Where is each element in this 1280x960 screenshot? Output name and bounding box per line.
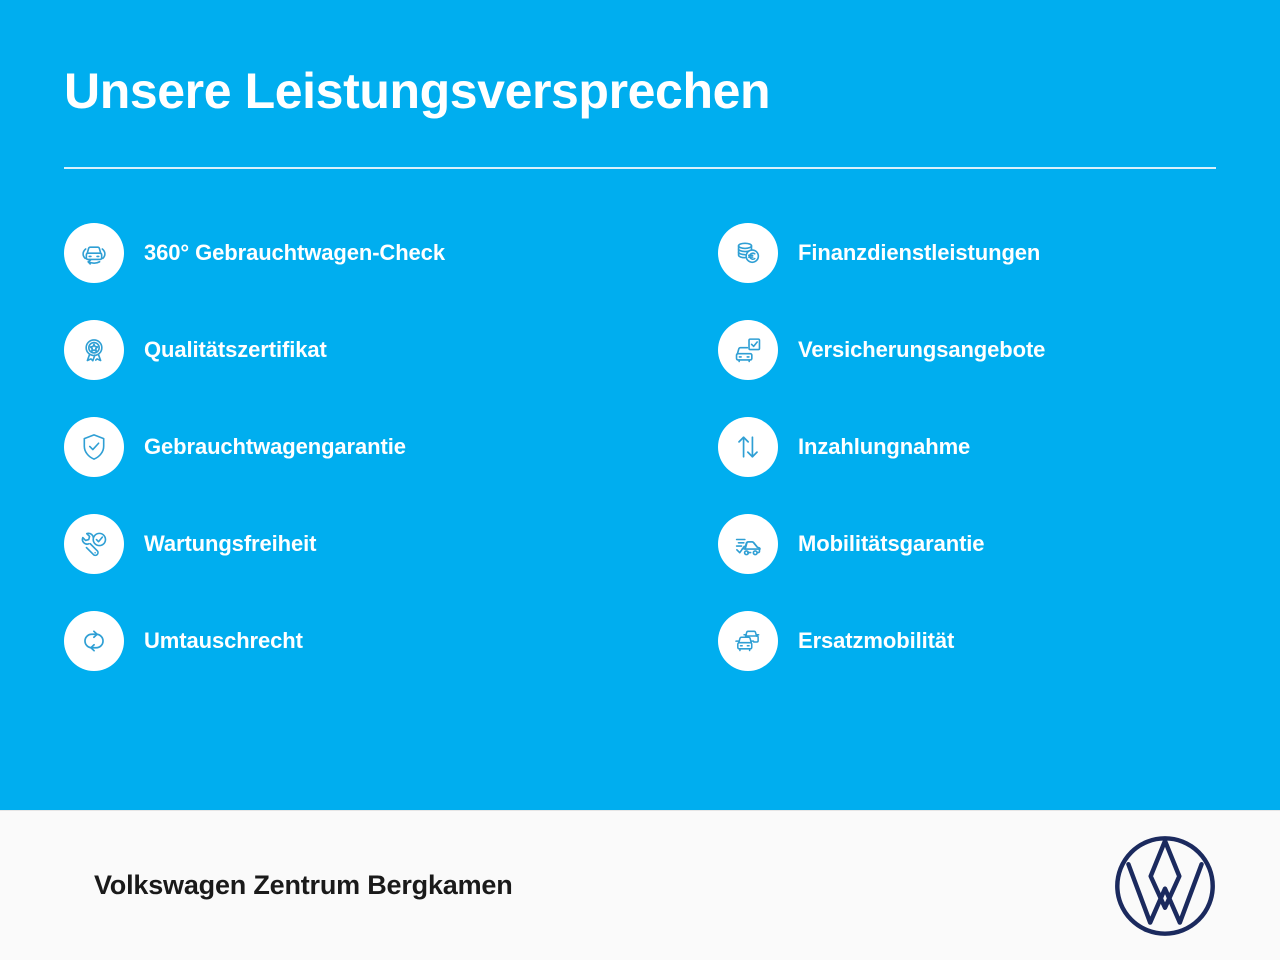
dealer-name: Volkswagen Zentrum Bergkamen bbox=[94, 870, 513, 901]
coins-euro-icon bbox=[718, 223, 778, 283]
promise-label: Versicherungsangebote bbox=[798, 337, 1045, 363]
promise-item-used-car-warranty: Gebrauchtwagengarantie bbox=[64, 398, 714, 495]
shield-check-icon bbox=[64, 417, 124, 477]
promise-label: Mobilitätsgarantie bbox=[798, 531, 984, 557]
promise-label: Finanzdienstleistungen bbox=[798, 240, 1040, 266]
up-down-arrows-icon bbox=[718, 417, 778, 477]
promise-item-insurance-offers: Versicherungsangebote bbox=[714, 301, 1216, 398]
promise-label: Umtauschrecht bbox=[144, 628, 303, 654]
promise-item-maintenance-free: Wartungsfreiheit bbox=[64, 495, 714, 592]
promise-item-exchange-right: Umtauschrecht bbox=[64, 592, 714, 689]
promise-item-trade-in: Inzahlungnahme bbox=[714, 398, 1216, 495]
promise-item-replacement-mobility: Ersatzmobilität bbox=[714, 592, 1216, 689]
car-checkbox-icon bbox=[718, 320, 778, 380]
promise-grid: 360° Gebrauchtwagen-Check bbox=[64, 204, 1216, 689]
award-rosette-icon bbox=[64, 320, 124, 380]
promise-label: 360° Gebrauchtwagen-Check bbox=[144, 240, 445, 266]
car-360-check-icon bbox=[64, 223, 124, 283]
hero-section: Unsere Leistungsversprechen bbox=[0, 0, 1280, 810]
promise-label: Gebrauchtwagengarantie bbox=[144, 434, 406, 460]
promise-item-financial-services: Finanzdienstleistungen bbox=[714, 204, 1216, 301]
promise-label: Ersatzmobilität bbox=[798, 628, 954, 654]
wrench-check-icon bbox=[64, 514, 124, 574]
promise-label: Qualitätszertifikat bbox=[144, 337, 327, 363]
leistungsversprechen-page: Unsere Leistungsversprechen bbox=[0, 0, 1280, 960]
car-speed-check-icon bbox=[718, 514, 778, 574]
promise-item-mobility-guarantee: Mobilitätsgarantie bbox=[714, 495, 1216, 592]
promise-label: Wartungsfreiheit bbox=[144, 531, 316, 557]
footer-bar: Volkswagen Zentrum Bergkamen bbox=[0, 810, 1280, 960]
promise-item-360-check: 360° Gebrauchtwagen-Check bbox=[64, 204, 714, 301]
volkswagen-logo-icon bbox=[1112, 833, 1218, 939]
title-divider bbox=[64, 167, 1216, 169]
promise-item-quality-certificate: Qualitätszertifikat bbox=[64, 301, 714, 398]
two-cars-icon bbox=[718, 611, 778, 671]
exchange-arrows-icon bbox=[64, 611, 124, 671]
promise-label: Inzahlungnahme bbox=[798, 434, 970, 460]
page-title: Unsere Leistungsversprechen bbox=[64, 58, 1216, 119]
